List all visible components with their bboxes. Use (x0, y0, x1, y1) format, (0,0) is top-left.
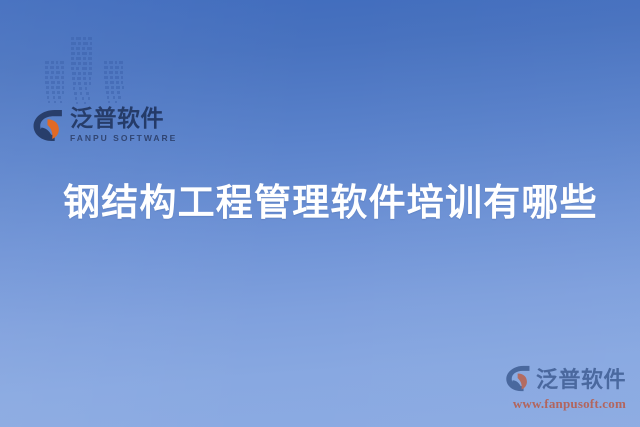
page-title: 钢结构工程管理软件培训有哪些 (63, 180, 598, 226)
brand-name-cn: 泛普软件 (70, 108, 177, 131)
fanpu-logo-mark-icon (32, 109, 65, 142)
watermark-brand-name: 泛普软件 (536, 362, 626, 394)
fanpu-logo-mark-icon (505, 365, 532, 392)
brand-logo: 泛普软件 FANPU SOFTWARE (32, 108, 177, 143)
promo-banner: 泛普软件 FANPU SOFTWARE 钢结构工程管理软件培训有哪些 泛普软件 … (0, 0, 640, 427)
watermark-url: www.fanpusoft.com (474, 396, 626, 412)
watermark: 泛普软件 www.fanpusoft.com (474, 362, 626, 412)
brand-name-en: FANPU SOFTWARE (70, 134, 177, 143)
watermark-logo-row: 泛普软件 (474, 362, 626, 394)
dot-matrix-skyline-icon (42, 33, 138, 111)
